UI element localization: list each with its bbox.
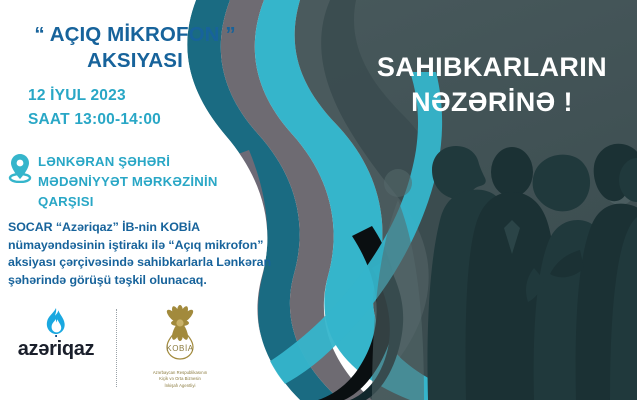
gas-flame-icon bbox=[43, 307, 69, 337]
location-line-2: MƏDƏNİYYƏT MƏRKƏZİNİN bbox=[38, 172, 218, 192]
event-location: LƏNKƏRAN ŞƏHƏRİ MƏDƏNİYYƏT MƏRKƏZİNİN QA… bbox=[8, 152, 258, 212]
event-description: SOCAR “Azəriqaz” İB-nin KOBİA nümayəndəs… bbox=[8, 219, 298, 289]
kobia-logo: KOBİA Azərbaycan Respublikasının Kiçik v… bbox=[132, 305, 228, 389]
attention-line-1: SAHIBKARLARIN bbox=[352, 50, 632, 85]
people-silhouettes bbox=[372, 144, 637, 400]
headline-line-2: AKSIYASI bbox=[10, 48, 260, 74]
event-datetime: 12 İYUL 2023 SAAT 13:00-14:00 bbox=[28, 84, 258, 132]
kobia-flower-icon: KOBİA bbox=[145, 305, 215, 367]
description-line-2: nümayəndəsinin iştirakı ilə “Açıq mikrof… bbox=[8, 237, 298, 255]
location-line-1: LƏNKƏRAN ŞƏHƏRİ bbox=[38, 152, 218, 172]
svg-text:KOBİA: KOBİA bbox=[166, 344, 194, 353]
event-poster: “ AÇIQ MİKROFON ” AKSIYASI 12 İYUL 2023 … bbox=[0, 0, 637, 400]
attention-line-2: NƏZƏRİNƏ ! bbox=[352, 85, 632, 120]
kobia-subtitle: Azərbaycan Respublikasının Kiçik və Orta… bbox=[132, 370, 228, 389]
logo-divider bbox=[116, 309, 118, 387]
description-line-3: aksiyası çərçivəsində sahibkarlarla Lənk… bbox=[8, 254, 298, 272]
kobia-subtitle-line-3: İnkişafı Agentliyi bbox=[132, 383, 228, 389]
attention-headline: SAHIBKARLARIN NƏZƏRİNƏ ! bbox=[352, 50, 632, 120]
description-line-4: şəhərində görüşü təşkil olunacaq. bbox=[8, 272, 298, 290]
event-time: SAAT 13:00-14:00 bbox=[28, 108, 258, 132]
description-line-1: SOCAR “Azəriqaz” İB-nin KOBİA bbox=[8, 219, 298, 237]
event-location-text: LƏNKƏRAN ŞƏHƏRİ MƏDƏNİYYƏT MƏRKƏZİNİN QA… bbox=[38, 152, 218, 212]
page-title: “ AÇIQ MİKROFON ” AKSIYASI bbox=[10, 22, 260, 74]
location-line-3: QARŞISI bbox=[38, 192, 218, 212]
event-date: 12 İYUL 2023 bbox=[28, 84, 258, 108]
headline-line-1: “ AÇIQ MİKROFON ” bbox=[34, 23, 235, 46]
sponsor-logos: azəriqaz KOBİA bbox=[6, 305, 228, 389]
azeriqaz-wordmark: azəriqaz bbox=[6, 339, 106, 359]
azeriqaz-logo: azəriqaz bbox=[6, 305, 106, 359]
location-pin-icon bbox=[8, 153, 32, 183]
